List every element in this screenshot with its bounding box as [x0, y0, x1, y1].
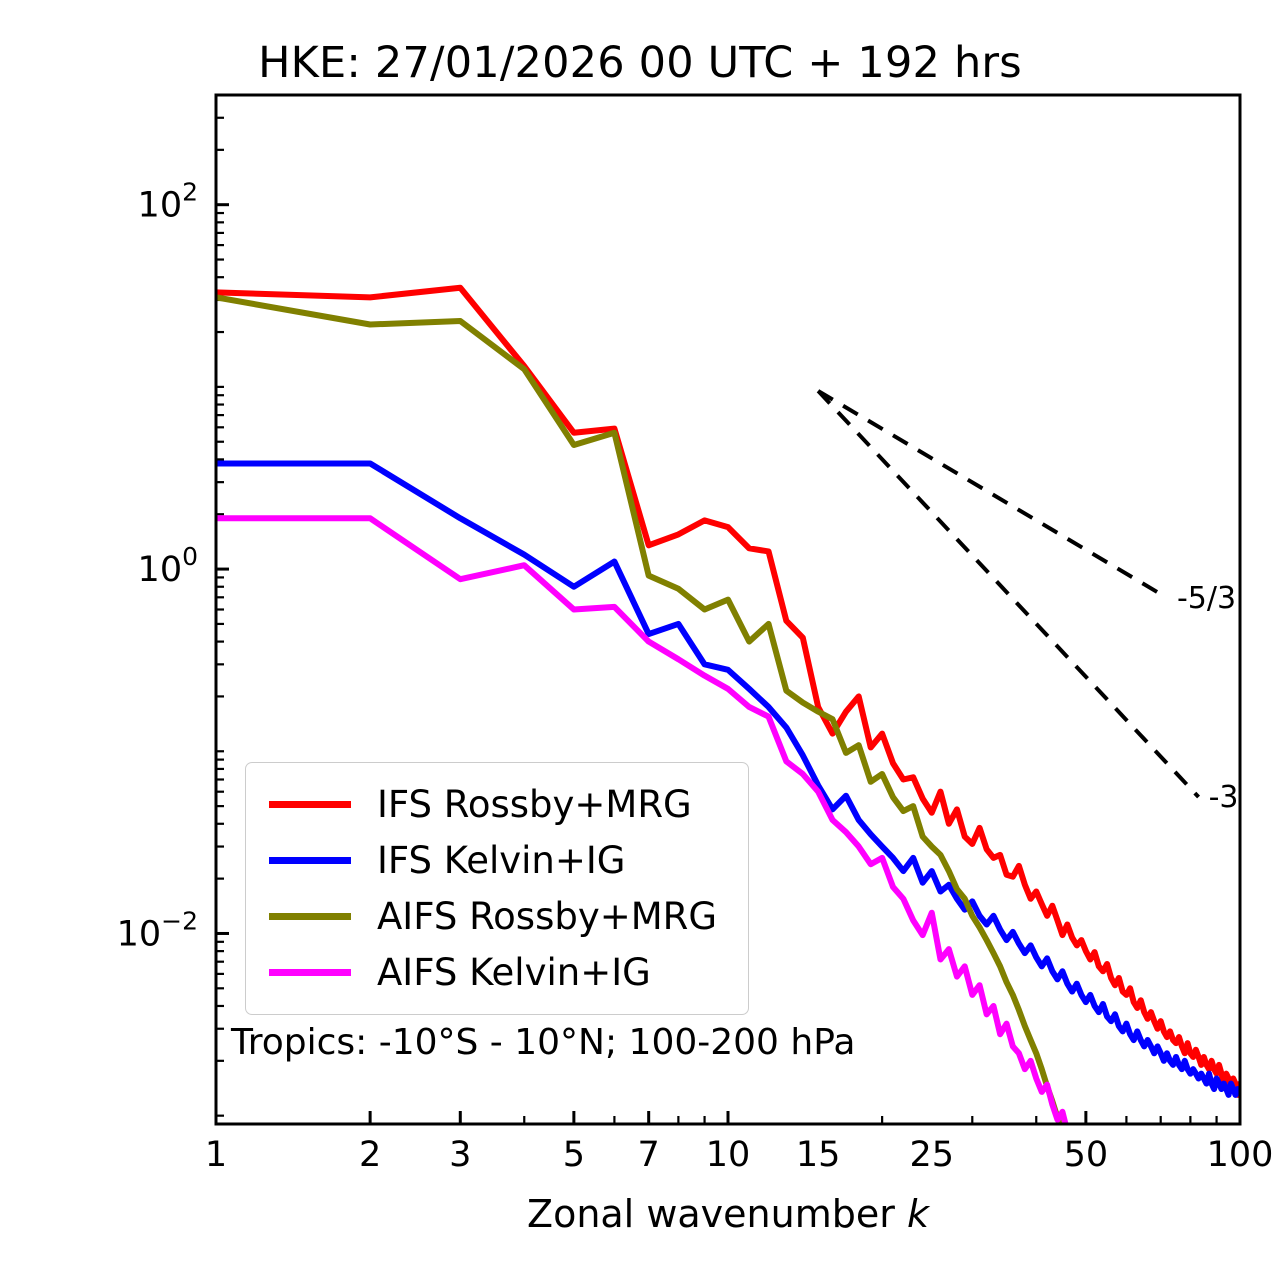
chart-plot-area: 1235710152550100 10210010−2 -5/3-3 — [0, 0, 1280, 1288]
x-tick-label: 100 — [1207, 1135, 1274, 1175]
x-tick-label: 50 — [1064, 1135, 1109, 1175]
x-tick-label: 25 — [909, 1135, 954, 1175]
chart-legend[interactable]: IFS Rossby+MRGIFS Kelvin+IGAIFS Rossby+M… — [245, 762, 749, 1015]
y-tick-label: 100 — [138, 542, 198, 590]
legend-item-label: IFS Kelvin+IG — [377, 839, 625, 882]
legend-item[interactable]: IFS Kelvin+IG — [246, 832, 748, 888]
x-tick-label: 15 — [796, 1135, 841, 1175]
legend-item-label: AIFS Rossby+MRG — [377, 895, 717, 938]
y-axis-tick-labels: 10210010−2 — [117, 178, 198, 955]
slope-reference-label: -3 — [1209, 780, 1239, 815]
x-tick-label: 10 — [706, 1135, 751, 1175]
x-tick-label: 7 — [638, 1135, 660, 1175]
legend-item[interactable]: AIFS Rossby+MRG — [246, 888, 748, 944]
x-tick-label: 1 — [205, 1135, 227, 1175]
y-tick-label: 102 — [138, 178, 198, 226]
legend-item-label: IFS Rossby+MRG — [377, 783, 692, 826]
y-tick-label: 10−2 — [117, 906, 198, 954]
x-tick-label: 3 — [449, 1135, 471, 1175]
legend-color-swatch — [269, 969, 351, 976]
legend-item[interactable]: AIFS Kelvin+IG — [246, 944, 748, 1000]
slope-reference-label: -5/3 — [1177, 581, 1236, 616]
x-axis-ticks — [216, 1111, 1240, 1124]
x-tick-label: 2 — [359, 1135, 381, 1175]
region-annotation: Tropics: -10°S - 10°N; 100-200 hPa — [231, 1022, 855, 1063]
legend-item[interactable]: IFS Rossby+MRG — [246, 776, 748, 832]
legend-color-swatch — [269, 801, 351, 808]
x-axis-tick-labels: 1235710152550100 — [205, 1135, 1274, 1175]
legend-color-swatch — [269, 913, 351, 920]
legend-item-label: AIFS Kelvin+IG — [377, 951, 651, 994]
x-tick-label: 5 — [563, 1135, 585, 1175]
figure-canvas: HKE: 27/01/2026 00 UTC + 192 hrs Horizon… — [0, 0, 1280, 1288]
legend-color-swatch — [269, 857, 351, 864]
